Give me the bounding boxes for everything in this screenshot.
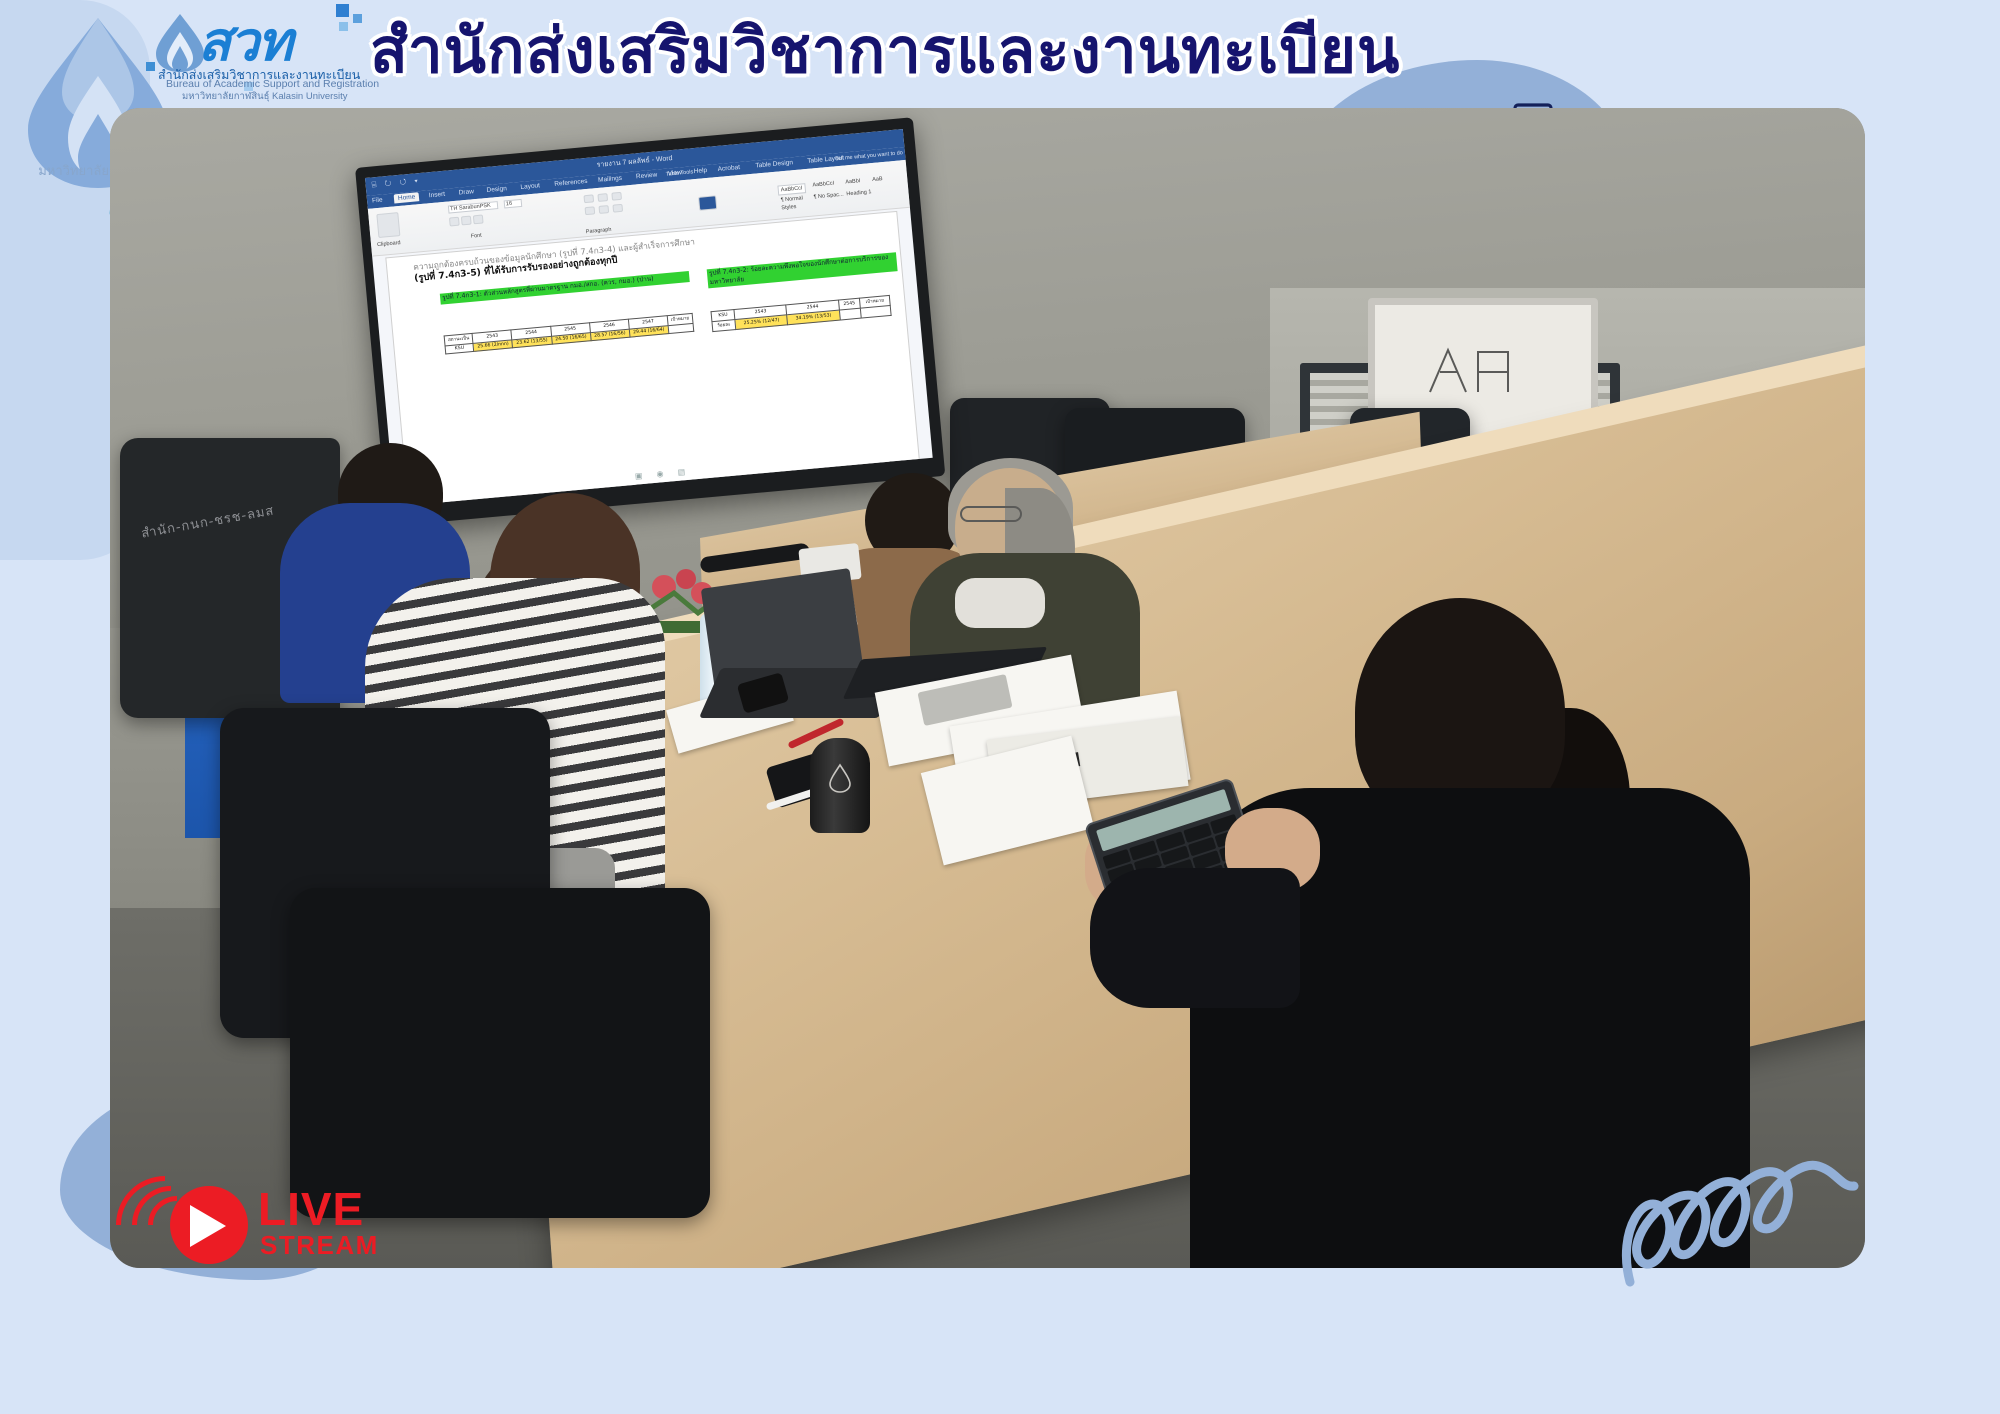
poster-root: มหาวิทยาลัยกาฬสินธุ์ สวท สำนักส่งเสริมวิ… [0,0,2000,1414]
td: KSU [445,343,474,354]
scarf [955,578,1045,628]
word-quick-access-toolbar[interactable]: ⌸ ↻ ↺ ▾ [371,176,421,190]
td [839,308,861,320]
tab-insert[interactable]: Insert [429,191,446,199]
play-button-icon [170,1186,248,1264]
eyeglasses [960,506,1022,522]
style-label-normal: ¶ Normal [780,195,803,203]
doc-table-right: KSU 2543 2544 2545 เป้าหมาย ร้อยละ 25.25… [710,295,891,332]
tab-table-design[interactable]: Table Design [755,159,793,169]
tab-references[interactable]: References [554,178,588,188]
tv-screen-content: ⌸ ↻ ↺ ▾ รายงาน 7 ผลลัพธ์ - Word File Hom… [365,129,933,507]
tab-acrobat[interactable]: Acrobat [717,164,740,173]
asr-pixel-2 [353,14,362,23]
tab-design[interactable]: Design [486,185,507,194]
ribbon-group-paragraph: Paragraph [586,227,612,235]
style-heading-1[interactable]: AaBbI [845,178,860,185]
tab-review[interactable]: Review [636,172,658,181]
play-icon [190,1205,226,1247]
live-label: LIVE [258,1186,364,1232]
style-no-spacing[interactable]: AaBbCcI [812,181,834,189]
td: ร้อยละ [712,320,736,332]
font-size-box[interactable]: 16 [504,199,523,209]
style-normal[interactable]: AaBbCcI [777,183,806,195]
style-label-heading-1: Heading 1 [846,189,872,197]
style-heading-2[interactable]: AaB [872,176,883,183]
office-chair [290,888,710,1218]
page-title: สำนักส่งเสริมวิชาการและงานทะเบียน [370,6,1850,98]
live-stream-badge: LIVE STREAM [118,1180,388,1272]
asr-bureau-logo: สวท สำนักส่งเสริมวิชาการและงานทะเบียน Bu… [140,2,390,97]
tumbler-logo [826,763,854,793]
ribbon-group-font: Font [470,233,482,240]
tab-help[interactable]: Help [693,167,707,175]
td [860,305,891,318]
tab-file[interactable]: File [372,197,383,205]
whiteboard-drawing [1420,338,1530,408]
doc-table-left: สถานะเป็น 2543 2544 2545 2546 2547 เป้าห… [444,313,695,355]
stream-label: STREAM [260,1232,379,1258]
tab-home[interactable]: Home [394,192,420,203]
doc-figure-caption-right: รูปที่ 7.4ก3-2: ร้อยละความพึงพอใจของนักศ… [707,252,898,288]
person-arm [1090,868,1300,1008]
ribbon-group-clipboard: Clipboard [377,240,401,248]
tab-draw[interactable]: Draw [458,188,474,196]
style-label-no-spacing: ¶ No Spac... [813,192,844,201]
ribbon-group-styles: Styles [781,204,796,211]
meeting-room-photo: สำนัก-กนก-ชรช-ลมส ⌸ ↻ ↺ ▾ รายงาน 7 ผลลัพ… [110,108,1865,1268]
asr-pixel-4 [146,62,155,71]
asr-pixel-3 [339,22,348,31]
asr-pixel-1 [336,4,349,17]
tab-mailings[interactable]: Mailings [598,175,622,184]
decor-squiggle [1620,1110,1880,1290]
font-name-box[interactable]: TH SarabunPSK [448,201,499,213]
word-document-page[interactable]: ความถูกต้องครบถ้วนของข้อมูลนักศึกษา (รูป… [386,212,918,505]
footer-bar: f สำนักส่งเสริมวิชาการและงานทะเบียน มหาว… [0,1285,2000,1414]
tab-layout[interactable]: Layout [520,182,540,191]
td [668,323,694,333]
